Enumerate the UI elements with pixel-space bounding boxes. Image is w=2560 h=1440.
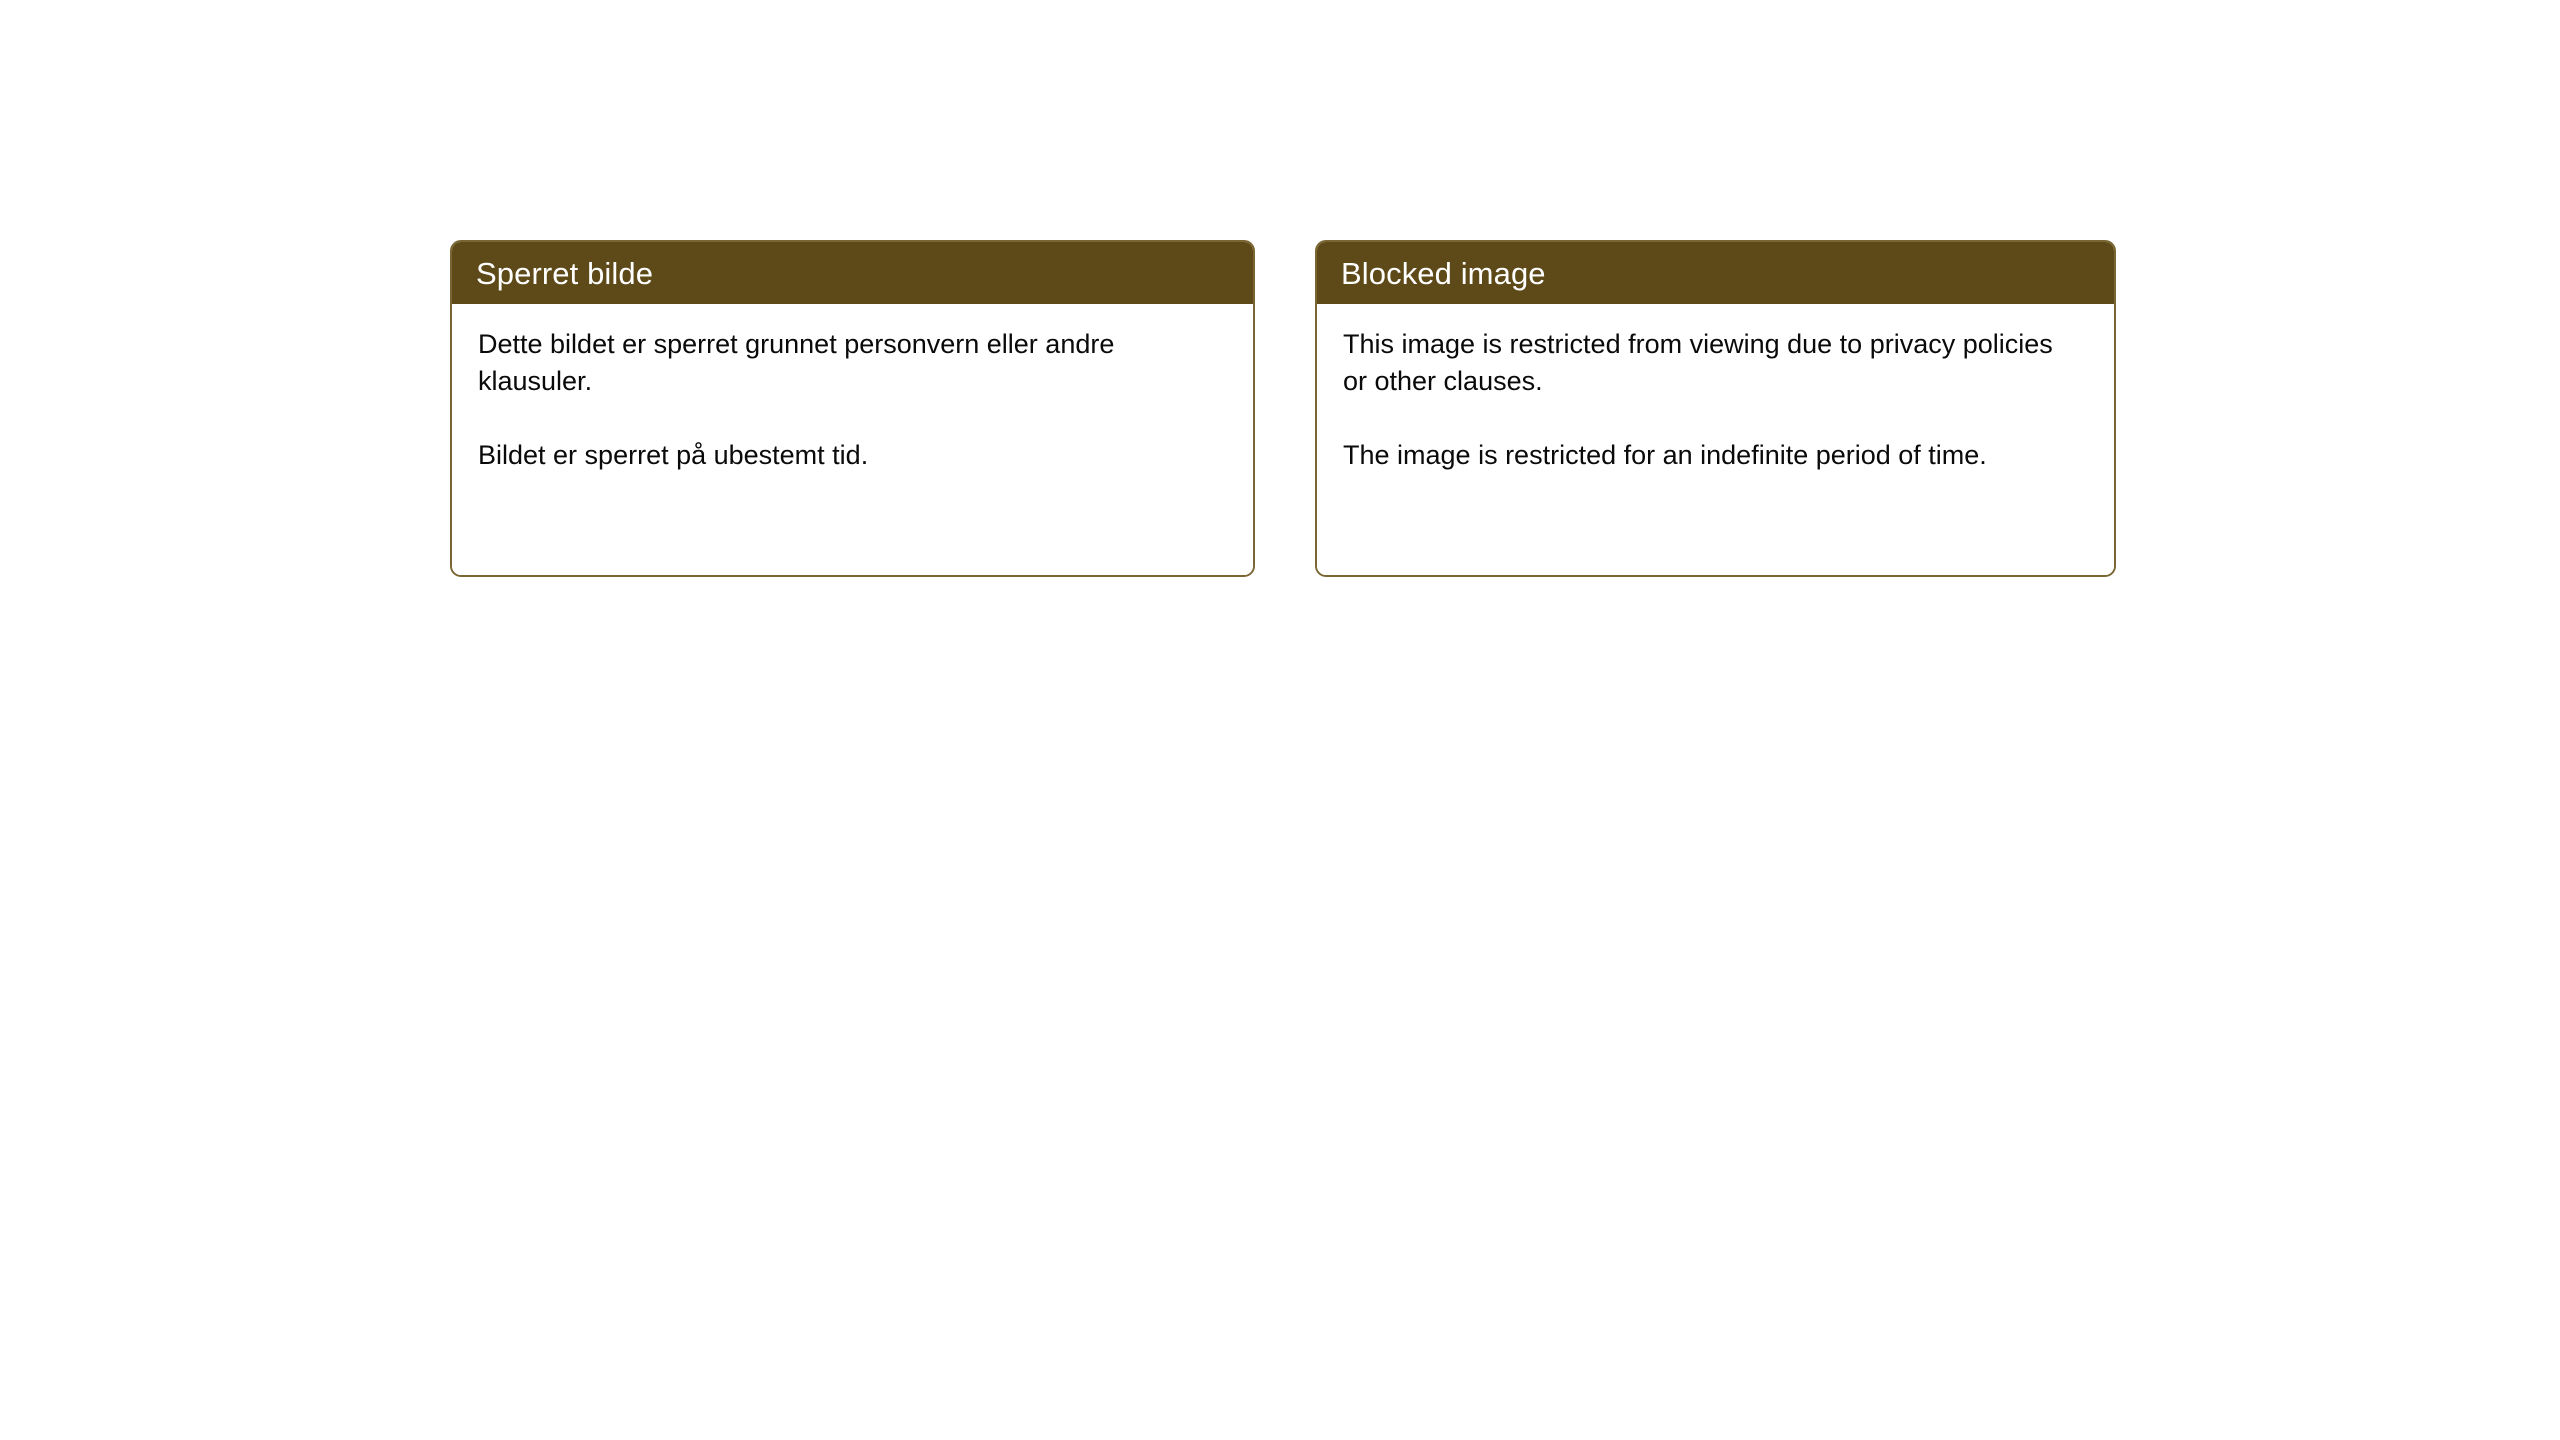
- card-body-norwegian: Dette bildet er sperret grunnet personve…: [452, 304, 1253, 575]
- card-paragraph-english-1: This image is restricted from viewing du…: [1343, 326, 2083, 400]
- card-paragraph-english-2: The image is restricted for an indefinit…: [1343, 437, 2083, 474]
- card-paragraph-norwegian-2: Bildet er sperret på ubestemt tid.: [478, 437, 1218, 474]
- blocked-image-card-norwegian: Sperret bilde Dette bildet er sperret gr…: [450, 240, 1255, 577]
- card-paragraph-norwegian-1: Dette bildet er sperret grunnet personve…: [478, 326, 1218, 400]
- blocked-image-card-english: Blocked image This image is restricted f…: [1315, 240, 2116, 577]
- card-body-english: This image is restricted from viewing du…: [1317, 304, 2114, 575]
- card-header-english: Blocked image: [1317, 242, 2114, 304]
- card-title-english: Blocked image: [1341, 258, 1546, 289]
- card-title-norwegian: Sperret bilde: [476, 258, 653, 289]
- page-root: Sperret bilde Dette bildet er sperret gr…: [0, 0, 2560, 1440]
- blocked-image-notice-group: Sperret bilde Dette bildet er sperret gr…: [450, 240, 2116, 577]
- card-header-norwegian: Sperret bilde: [452, 242, 1253, 304]
